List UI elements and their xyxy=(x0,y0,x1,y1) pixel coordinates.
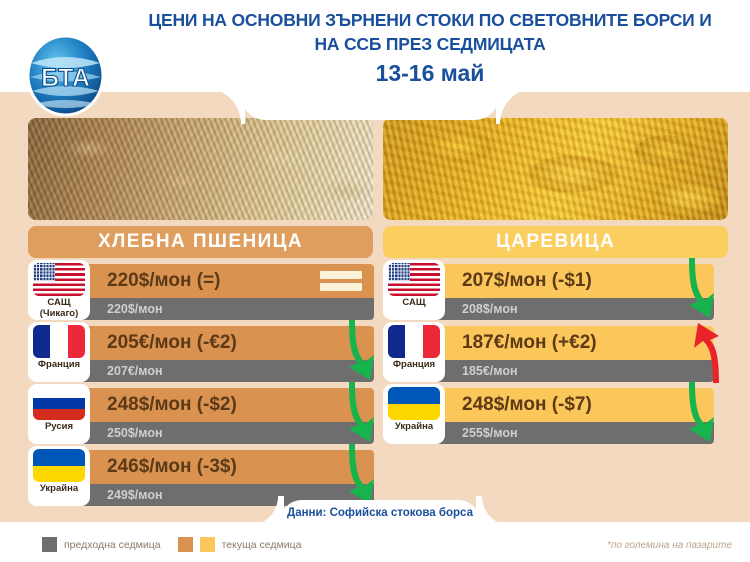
country-label: САЩ (Чикаго) xyxy=(40,298,79,319)
country-label: САЩ xyxy=(402,298,425,309)
country-sub: (Чикаго) xyxy=(40,308,79,319)
country-flag-box: САЩ (Чикаго) xyxy=(28,260,90,320)
country-name: Русия xyxy=(45,421,73,432)
country-label: Франция xyxy=(393,360,435,371)
previous-week-bar: 250$/мон xyxy=(74,422,374,444)
previous-week-bar: 220$/мон xyxy=(74,298,374,320)
previous-price: 249$/мон xyxy=(107,488,163,502)
footer-notch-left xyxy=(248,496,284,522)
current-week-bar: 246$/мон (-3$) xyxy=(74,450,374,484)
country-flag-box: Франция xyxy=(383,322,445,382)
table-row[interactable]: 187€/мон (+€2) 185€/мон Фр xyxy=(383,322,728,384)
current-week-bar: 220$/мон (=) xyxy=(74,264,374,298)
arrow-down-icon xyxy=(686,256,722,327)
previous-price: 250$/мон xyxy=(107,426,163,440)
country-name: САЩ xyxy=(47,297,70,308)
previous-price: 185€/мон xyxy=(462,364,518,378)
corn-banner: ЦАРЕВИЦА xyxy=(383,226,728,258)
title-line-2: НА ССБ ПРЕЗ СЕДМИЦАТА xyxy=(130,32,730,56)
previous-week-bar: 208$/мон xyxy=(429,298,714,320)
table-row[interactable]: 248$/мон (-$2) 250$/мон Ру xyxy=(28,384,373,446)
flag-us-icon xyxy=(388,263,440,296)
previous-price: 207€/мон xyxy=(107,364,163,378)
country-label: Украйна xyxy=(40,484,78,495)
previous-week-bar: 255$/мон xyxy=(429,422,714,444)
flag-ua-icon xyxy=(33,449,85,482)
footnote: *по големина на пазарите xyxy=(607,540,732,551)
footer-notch-right xyxy=(476,496,512,522)
panel-wheat: ХЛЕБНА ПШЕНИЦА 220$/мон (=) 220$/мон xyxy=(28,118,373,258)
country-label: Русия xyxy=(45,422,73,433)
arrow-down-icon xyxy=(686,380,722,451)
previous-price: 220$/мон xyxy=(107,302,163,316)
country-label: Украйна xyxy=(395,422,433,433)
current-week-bar: 187€/мон (+€2) xyxy=(429,326,714,360)
date-range: 13-16 май xyxy=(130,58,730,88)
arrow-down-icon xyxy=(346,318,382,389)
arrow-down-icon xyxy=(346,380,382,451)
flag-fr-icon xyxy=(388,325,440,358)
country-flag-box: САЩ xyxy=(383,260,445,320)
table-row[interactable]: 246$/мон (-3$) 249$/мон Ук xyxy=(28,446,373,508)
table-row[interactable]: 207$/мон (-$1) 208$/мон СА xyxy=(383,260,728,322)
current-price: 220$/мон (=) xyxy=(107,270,220,292)
flag-us-icon xyxy=(33,263,85,296)
previous-price: 208$/мон xyxy=(462,302,518,316)
current-price: 246$/мон (-3$) xyxy=(107,456,237,478)
country-name: САЩ xyxy=(402,297,425,308)
bta-globe-logo: БТА xyxy=(23,33,108,118)
country-flag-box: Русия xyxy=(28,384,90,444)
infographic-canvas: БТА ЦЕНИ НА ОСНОВНИ ЗЪРНЕНИ СТОКИ ПО СВЕ… xyxy=(0,0,750,562)
table-row[interactable]: 220$/мон (=) 220$/мон САЩ xyxy=(28,260,373,322)
current-week-bar: 248$/мон (-$2) xyxy=(74,388,374,422)
equals-icon xyxy=(320,271,362,291)
current-price: 207$/мон (-$1) xyxy=(462,270,592,292)
flag-fr-icon xyxy=(33,325,85,358)
country-name: Франция xyxy=(38,359,80,370)
source-credit: Данни: Софийска стокова борса xyxy=(280,507,480,519)
wheat-banner: ХЛЕБНА ПШЕНИЦА xyxy=(28,226,373,258)
previous-week-bar: 185€/мон xyxy=(429,360,714,382)
flag-ua-icon xyxy=(388,387,440,420)
country-flag-box: Украйна xyxy=(383,384,445,444)
panel-corn: ЦАРЕВИЦА 207$/мон (-$1) 208$/мон xyxy=(383,118,728,258)
wheat-photo xyxy=(28,118,373,220)
legend-swatch-previous xyxy=(42,537,57,552)
previous-price: 255$/мон xyxy=(462,426,518,440)
current-week-bar: 207$/мон (-$1) xyxy=(429,264,714,298)
title-line-1: ЦЕНИ НА ОСНОВНИ ЗЪРНЕНИ СТОКИ ПО СВЕТОВН… xyxy=(130,8,730,32)
legend-label-previous: предходна седмица xyxy=(64,539,161,551)
legend-swatch-current-orange xyxy=(178,537,193,552)
current-price: 205€/мон (-€2) xyxy=(107,332,237,354)
table-row[interactable]: 248$/мон (-$7) 255$/мон Ук xyxy=(383,384,728,446)
header-notch-right xyxy=(496,92,536,124)
wheat-rows: 220$/мон (=) 220$/мон САЩ xyxy=(28,260,373,508)
country-flag-box: Украйна xyxy=(28,446,90,506)
current-price: 248$/мон (-$2) xyxy=(107,394,237,416)
header-notch-left xyxy=(205,92,245,124)
table-row[interactable]: 205€/мон (-€2) 207€/мон Фр xyxy=(28,322,373,384)
legend-label-current: текуща седмица xyxy=(222,539,302,551)
country-name: Франция xyxy=(393,359,435,370)
corn-rows: 207$/мон (-$1) 208$/мон СА xyxy=(383,260,728,446)
previous-week-bar: 207€/мон xyxy=(74,360,374,382)
country-flag-box: Франция xyxy=(28,322,90,382)
corn-photo xyxy=(383,118,728,220)
svg-text:БТА: БТА xyxy=(41,64,90,92)
current-week-bar: 205€/мон (-€2) xyxy=(74,326,374,360)
flag-ru-icon xyxy=(33,387,85,420)
current-price: 248$/мон (-$7) xyxy=(462,394,592,416)
country-name: Украйна xyxy=(395,421,433,432)
page-title: ЦЕНИ НА ОСНОВНИ ЗЪРНЕНИ СТОКИ ПО СВЕТОВН… xyxy=(130,8,730,88)
country-name: Украйна xyxy=(40,483,78,494)
legend-swatch-current-yellow xyxy=(200,537,215,552)
current-week-bar: 248$/мон (-$7) xyxy=(429,388,714,422)
current-price: 187€/мон (+€2) xyxy=(462,332,597,354)
country-label: Франция xyxy=(38,360,80,371)
header-tab xyxy=(240,92,500,120)
legend: предходна седмица текуща седмица xyxy=(42,537,311,552)
